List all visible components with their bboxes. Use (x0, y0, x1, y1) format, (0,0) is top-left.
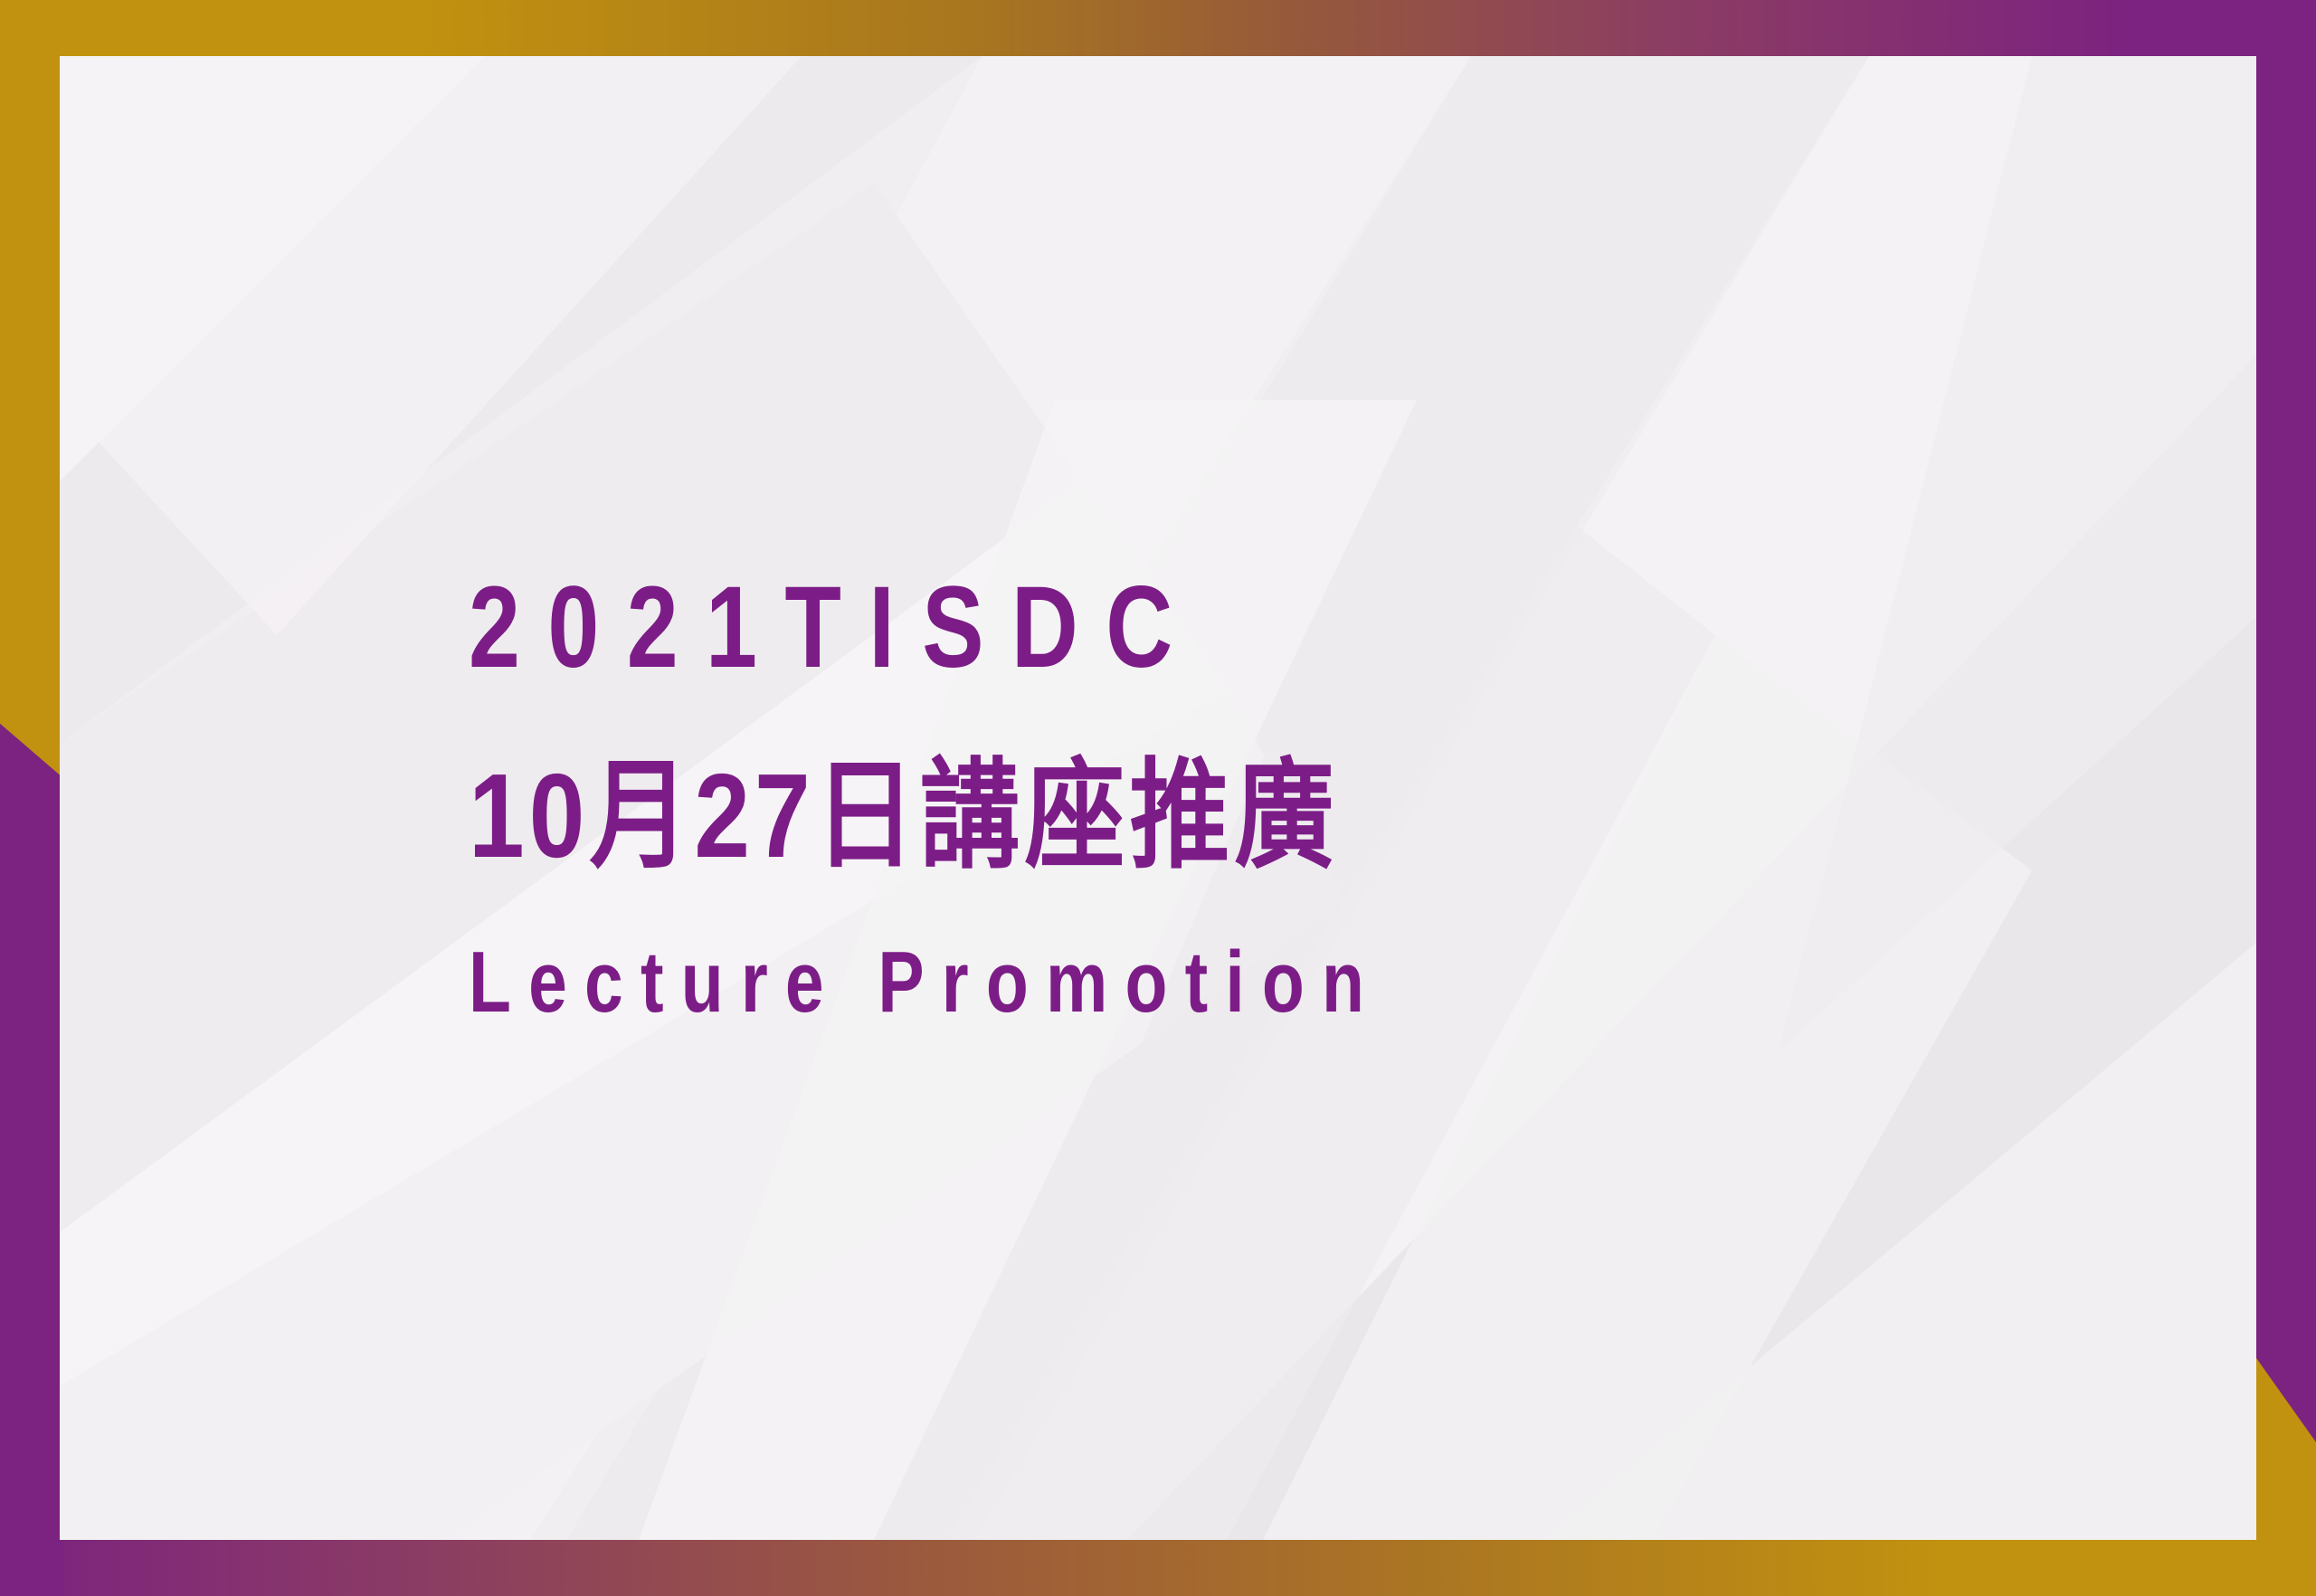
poster-inner-panel: 2021TISDC 10月27日講座推廣 Lecture Promotion (60, 56, 2256, 1540)
frame-left-rail (0, 0, 63, 1596)
frame-left-gold-segment (0, 0, 63, 778)
poster-title: 2021TISDC (469, 570, 1201, 686)
frame-right-rail (2253, 0, 2316, 1596)
frame-right-gold-segment (2253, 1288, 2316, 1596)
frame-bottom-bar (0, 1533, 2316, 1596)
poster-copy-block: 2021TISDC 10月27日講座推廣 Lecture Promotion (60, 56, 2256, 1540)
poster-date-headline: 10月27日講座推廣 (469, 756, 1339, 876)
frame-top-bar (0, 0, 2316, 63)
poster-canvas: 2021TISDC 10月27日講座推廣 Lecture Promotion (0, 0, 2316, 1596)
poster-subtitle: Lecture Promotion (469, 939, 1381, 1026)
